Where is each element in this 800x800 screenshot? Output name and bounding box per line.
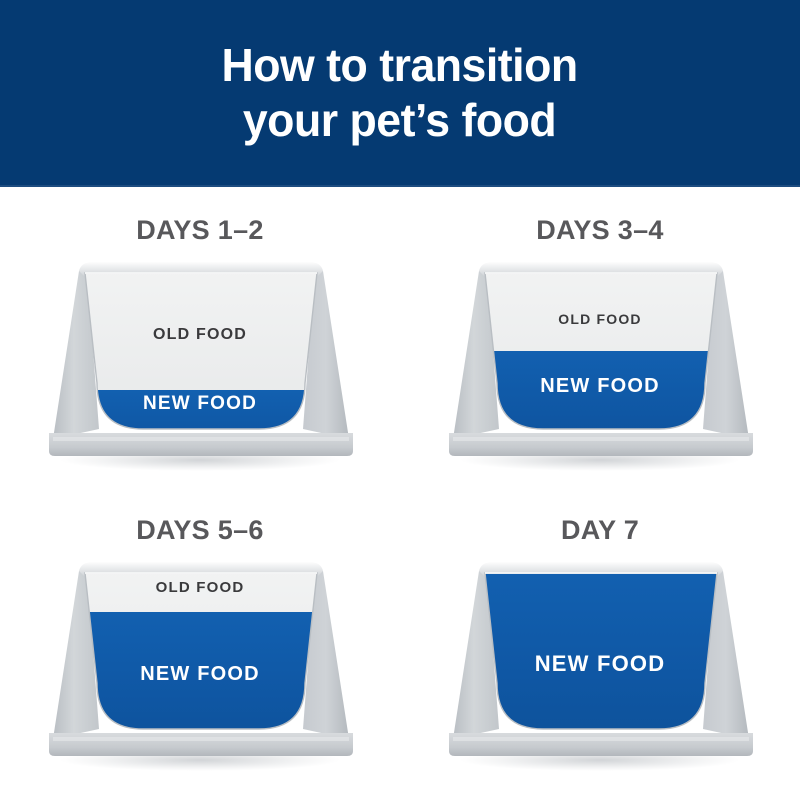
bowl-base-plinth xyxy=(49,733,353,756)
bowl-base-plinth xyxy=(449,433,753,456)
transition-steps-grid: DAYS 1–2 xyxy=(0,187,800,800)
transition-step-panel: DAYS 3–4 xyxy=(400,187,800,487)
bowl-base-highlight xyxy=(453,437,749,441)
bowl-container: NEW FOOD xyxy=(435,551,765,776)
transition-step-panel: DAYS 1–2 xyxy=(0,187,400,487)
bowl-illustration xyxy=(435,251,765,476)
bowl-container: OLD FOODNEW FOOD xyxy=(435,251,765,476)
bowl-base-plinth xyxy=(449,733,753,756)
bowl-base-highlight xyxy=(53,737,349,741)
bowl-illustration xyxy=(35,551,365,776)
transition-step-panel: DAY 7 xyxy=(400,487,800,800)
bowl-illustration xyxy=(435,551,765,776)
bowl-base-plinth xyxy=(49,433,353,456)
bowl-container: OLD FOODNEW FOOD xyxy=(35,251,365,476)
bowl-base-highlight xyxy=(453,737,749,741)
transition-step-panel: DAYS 5–6 xyxy=(0,487,400,800)
page-title-line-1: How to transition xyxy=(222,38,578,92)
step-day-label: DAY 7 xyxy=(400,515,800,546)
page-title-line-2: your pet’s food xyxy=(243,93,556,147)
bowl-base-highlight xyxy=(53,437,349,441)
step-day-label: DAYS 1–2 xyxy=(0,215,400,246)
header-banner: How to transition your pet’s food xyxy=(0,0,800,187)
infographic-page: How to transition your pet’s food DAYS 1… xyxy=(0,0,800,800)
bowl-illustration xyxy=(35,251,365,476)
step-day-label: DAYS 5–6 xyxy=(0,515,400,546)
bowl-container: OLD FOODNEW FOOD xyxy=(35,551,365,776)
step-day-label: DAYS 3–4 xyxy=(400,215,800,246)
